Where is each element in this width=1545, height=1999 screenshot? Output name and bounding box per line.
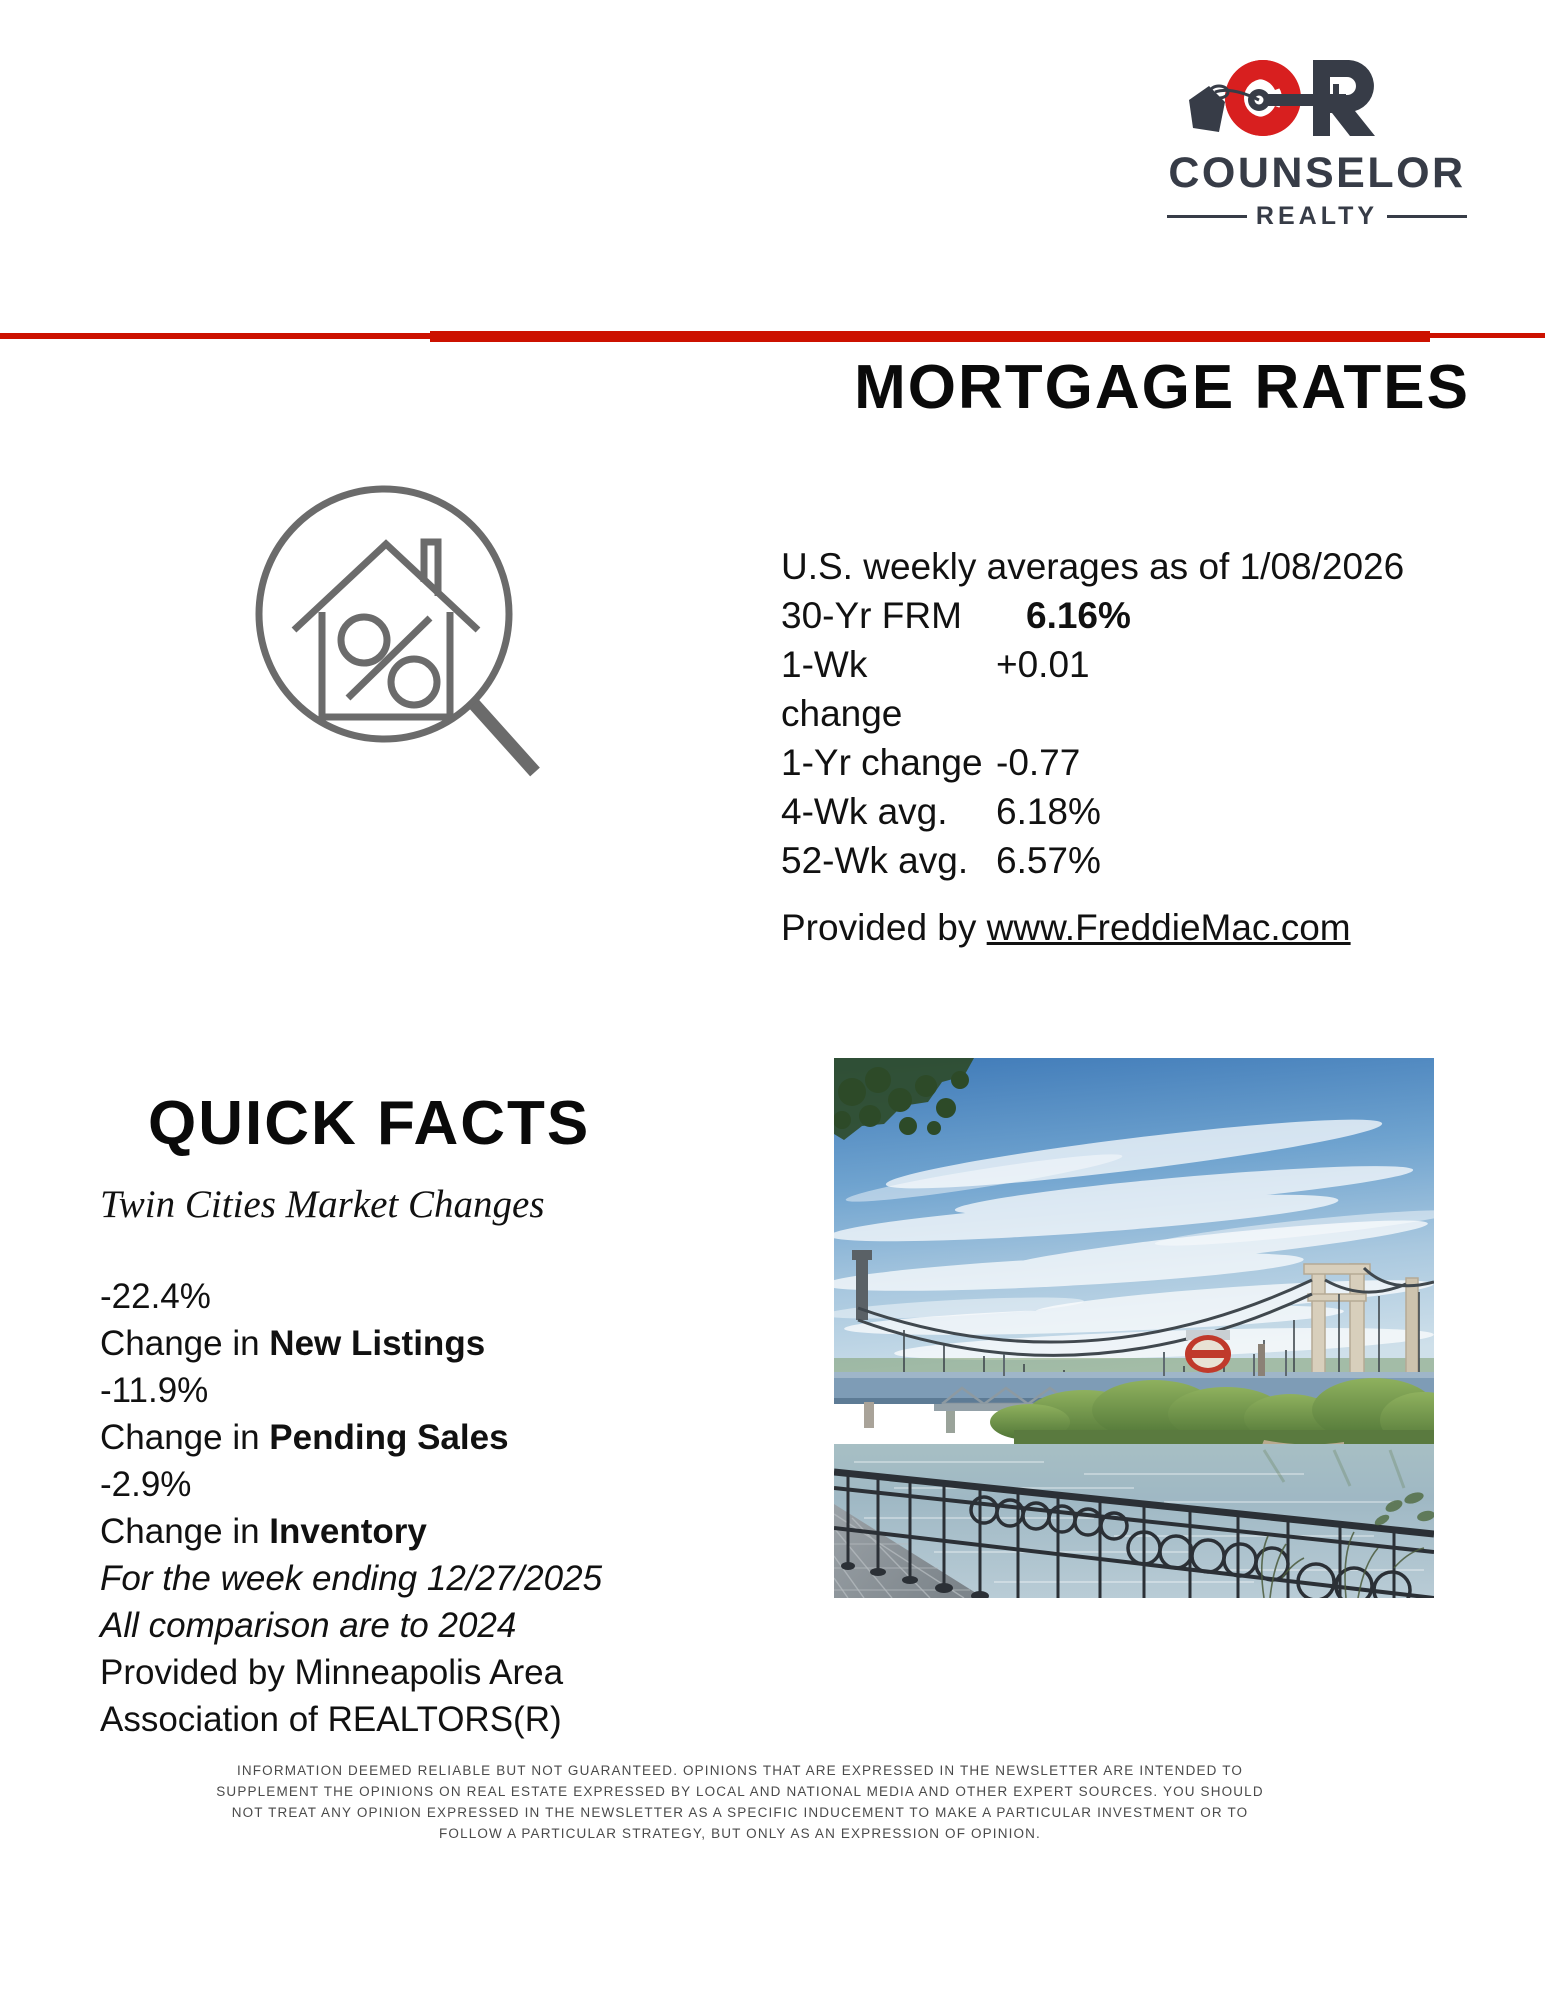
riverfront-photo (834, 1058, 1434, 1598)
quick-facts-comparison-note: All comparison are to 2024 (100, 1602, 720, 1649)
rates-row: 1-Yr change -0.77 (781, 738, 1211, 787)
divider-segment-mid (430, 331, 1430, 342)
quick-facts-subtitle: Twin Cities Market Changes (100, 1182, 545, 1227)
rate-label: 1-Yr change (781, 738, 996, 787)
stat-description: Change in New Listings (100, 1320, 720, 1367)
rate-value: +0.01 (996, 640, 1211, 738)
stat-percent: -11.9% (100, 1367, 720, 1414)
brand-name: COUNSELOR (1167, 152, 1467, 195)
stat-prefix: Change in (100, 1418, 269, 1457)
stat-prefix: Change in (100, 1324, 269, 1363)
quick-facts-title: QUICK FACTS (148, 1088, 590, 1159)
rate-label: 4-Wk avg. (781, 787, 996, 836)
rates-row-frm: 30-Yr FRM 6.16% (781, 591, 1211, 640)
divider-segment-right (1430, 333, 1545, 338)
mortgage-rates-title: MORTGAGE RATES (0, 352, 1470, 423)
stat-metric: Pending Sales (269, 1418, 508, 1457)
rate-value: 6.57% (996, 836, 1211, 885)
rates-row: 1-Wk change +0.01 (781, 640, 1211, 738)
house-percent-magnifier-icon (252, 482, 542, 787)
freddiemac-attribution: Provided by www.FreddieMac.com (781, 907, 1351, 949)
brand-logo[interactable]: COUNSELOR REALTY (1167, 48, 1467, 231)
stat-percent: -2.9% (100, 1461, 720, 1508)
stat-metric: New Listings (269, 1324, 485, 1363)
rates-as-of: U.S. weekly averages as of 1/08/2026 (781, 542, 1404, 591)
cr-key-icon (1167, 48, 1467, 148)
logo-mark-cr (1167, 48, 1467, 148)
riverfront-photo-image (834, 1058, 1434, 1598)
stat-description: Change in Inventory (100, 1508, 720, 1555)
quick-facts-source-line-2: Association of REALTORS(R) (100, 1696, 720, 1743)
brand-sub: REALTY (1256, 202, 1378, 231)
divider-segment-left (0, 333, 430, 339)
brand-sub-wrap: REALTY (1167, 202, 1467, 231)
stat-description: Change in Pending Sales (100, 1414, 720, 1461)
mortgage-rates-table: U.S. weekly averages as of 1/08/2026 30-… (781, 542, 1404, 885)
disclaimer-line-4: FOLLOW A PARTICULAR STRATEGY, BUT ONLY A… (150, 1823, 1330, 1844)
freddiemac-link[interactable]: www.FreddieMac.com (987, 907, 1351, 948)
quick-facts-source-line-1: Provided by Minneapolis Area (100, 1649, 720, 1696)
rate-label: 52-Wk avg. (781, 836, 996, 885)
page-header: COUNSELOR REALTY (0, 0, 1545, 320)
legal-disclaimer: INFORMATION DEEMED RELIABLE BUT NOT GUAR… (150, 1760, 1330, 1844)
stat-metric: Inventory (269, 1512, 427, 1551)
rates-row: 52-Wk avg. 6.57% (781, 836, 1211, 885)
rate-label: 1-Wk change (781, 640, 996, 738)
provided-prefix: Provided by (781, 907, 987, 948)
red-divider (0, 331, 1545, 343)
rate-value: 6.18% (996, 787, 1211, 836)
stat-percent: -22.4% (100, 1273, 720, 1320)
logo-rule-left (1167, 215, 1247, 218)
rate-value: -0.77 (996, 738, 1211, 787)
quick-facts-list: -22.4% Change in New Listings -11.9% Cha… (100, 1273, 720, 1743)
logo-rule-right (1387, 215, 1467, 218)
quick-facts-week-note: For the week ending 12/27/2025 (100, 1555, 720, 1602)
disclaimer-line-3: NOT TREAT ANY OPINION EXPRESSED IN THE N… (150, 1802, 1330, 1823)
stat-prefix: Change in (100, 1512, 269, 1551)
rates-row: 4-Wk avg. 6.18% (781, 787, 1211, 836)
disclaimer-line-2: SUPPLEMENT THE OPINIONS ON REAL ESTATE E… (150, 1781, 1330, 1802)
frm-label: 30-Yr FRM (781, 591, 996, 640)
disclaimer-line-1: INFORMATION DEEMED RELIABLE BUT NOT GUAR… (150, 1760, 1330, 1781)
frm-value: 6.16% (996, 591, 1131, 640)
